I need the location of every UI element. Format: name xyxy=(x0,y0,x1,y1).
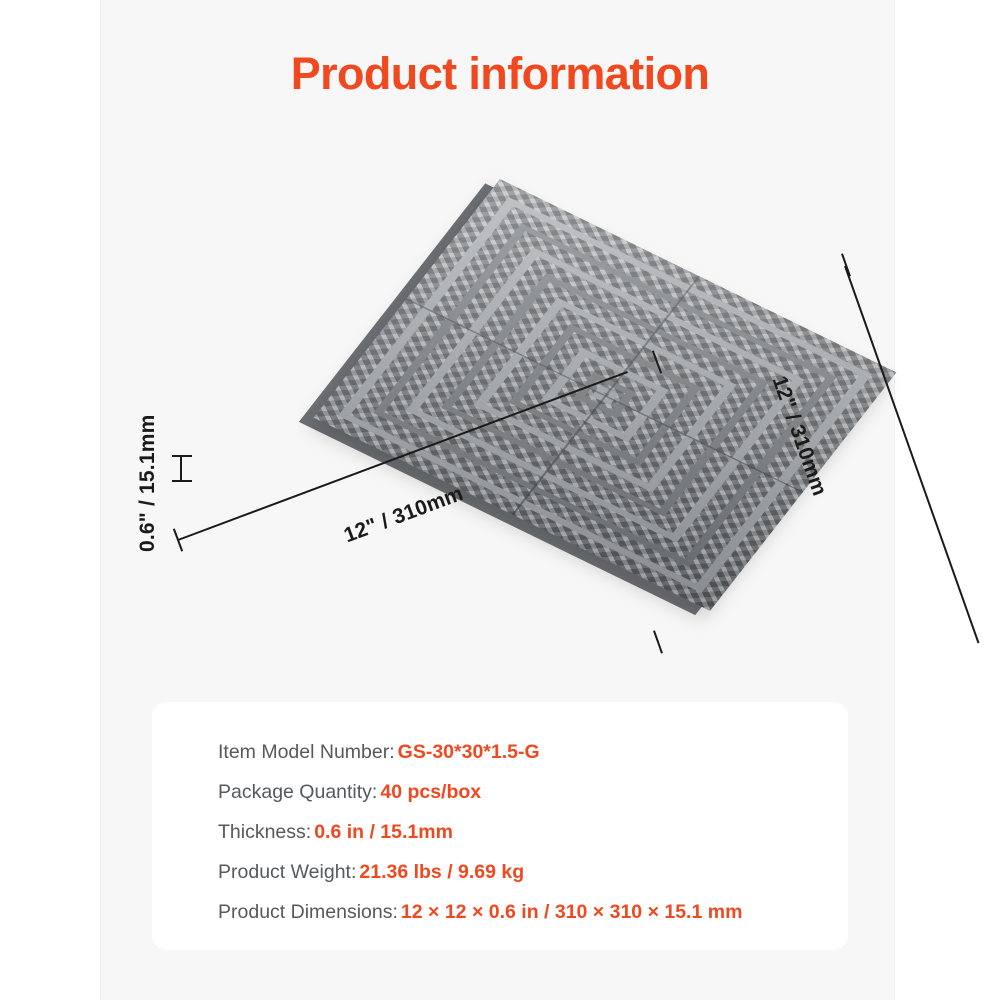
dimension-cap-width-left xyxy=(173,528,183,551)
page-title: Product information xyxy=(0,49,1000,99)
product-image: 12" / 310mm 12" / 310mm 0.6" / 15.1mm xyxy=(100,140,895,685)
specification-card: Item Model Number:GS-30*30*1.5-G Package… xyxy=(152,702,848,950)
spec-row-package-quantity: Package Quantity:40 pcs/box xyxy=(218,772,818,812)
spec-label: Item Model Number: xyxy=(218,741,395,763)
spec-row-product-dimensions: Product Dimensions:12 × 12 × 0.6 in / 31… xyxy=(218,892,818,932)
spec-label: Product Dimensions: xyxy=(218,901,398,923)
tile-surface xyxy=(314,179,897,611)
spec-value: 21.36 lbs / 9.69 kg xyxy=(359,861,524,883)
dimension-label-width: 12" / 310mm xyxy=(341,482,467,548)
product-information-page: Product information xyxy=(0,0,1000,1000)
spec-value: GS-30*30*1.5-G xyxy=(398,741,540,763)
dimension-line-depth xyxy=(844,266,979,644)
spec-row-item-model-number: Item Model Number:GS-30*30*1.5-G xyxy=(218,732,818,772)
spec-row-product-weight: Product Weight:21.36 lbs / 9.69 kg xyxy=(218,852,818,892)
dimension-cap-depth-bottom xyxy=(653,630,663,653)
spec-value: 40 pcs/box xyxy=(380,781,481,803)
specification-list: Item Model Number:GS-30*30*1.5-G Package… xyxy=(218,732,818,932)
tile-shading xyxy=(314,179,897,611)
dimension-label-thickness: 0.6" / 15.1mm xyxy=(136,415,160,552)
dimension-line-thickness xyxy=(180,456,182,482)
floor-tile-graphic xyxy=(314,179,897,611)
spec-label: Product Weight: xyxy=(218,861,356,883)
spec-row-thickness: Thickness:0.6 in / 15.1mm xyxy=(218,812,818,852)
spec-value: 12 × 12 × 0.6 in / 310 × 310 × 15.1 mm xyxy=(401,901,743,923)
spec-label: Thickness: xyxy=(218,821,311,843)
dimension-cap-thickness-top xyxy=(172,455,192,457)
spec-label: Package Quantity: xyxy=(218,781,377,803)
dimension-cap-thickness-bottom xyxy=(172,480,192,482)
spec-value: 0.6 in / 15.1mm xyxy=(314,821,453,843)
